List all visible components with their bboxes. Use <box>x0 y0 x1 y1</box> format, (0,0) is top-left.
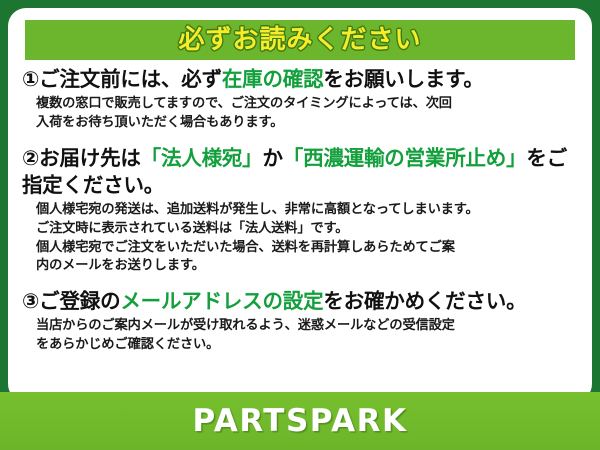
notice-item-3-heading-part-2: をお確かめください。 <box>323 289 526 313</box>
banner-title: 必ずお読みください <box>178 27 421 53</box>
notice-item-3-detail: 当店からのご案内メールが受け取れるよう、迷惑メールなどの受信設定 をあらかじめご… <box>36 317 580 354</box>
notice-item-2-heading-highlight-2: 「西濃運輸の営業所止め」 <box>283 146 527 170</box>
brand-logo-text: PARTSPARK <box>192 406 407 437</box>
notice-item-2-heading: ②お届け先は「法人様宛」か「西濃運輸の営業所止め」をご指定ください。 <box>22 145 580 200</box>
notice-item-2-detail-line-1: ご注文時に表示されている送料は「法人送料」です。 <box>36 220 580 239</box>
notice-item-3-heading: ③ご登録のメールアドレスの設定をお確かめください。 <box>22 288 580 315</box>
notice-banner: 必ずお読みください ①ご注文前には、必ず在庫の確認をお願いします。 複数の窓口で… <box>0 0 600 450</box>
notice-item-2-heading-part-0: お届け先は <box>39 146 141 170</box>
notice-item-3: ③ご登録のメールアドレスの設定をお確かめください。 当店からのご案内メールが受け… <box>22 288 580 355</box>
notice-item-1-detail-line-1: 入荷をお待ち頂いただく場合もあります。 <box>36 114 580 133</box>
notice-item-2-detail-line-3: 内のメールをお送りします。 <box>36 257 580 276</box>
notice-item-1-heading-part-0: ご注文前には、必ず <box>39 67 222 91</box>
notice-item-3-detail-line-1: をあらかじめご確認ください。 <box>36 336 580 355</box>
notice-item-1-heading-highlight: 在庫の確認 <box>222 67 324 91</box>
notice-item-2-detail: 個人様宅宛の発送は、追加送料が発生し、非常に高額となってしまいます。 ご注文時に… <box>36 201 580 276</box>
notice-item-1-heading: ①ご注文前には、必ず在庫の確認をお願いします。 <box>22 66 580 93</box>
notice-item-2-heading-part-2: か <box>262 146 282 170</box>
notice-item-1-marker: ① <box>22 67 39 91</box>
footer-bar: PARTSPARK <box>0 392 600 450</box>
notice-item-2-detail-line-0: 個人様宅宛の発送は、追加送料が発生し、非常に高額となってしまいます。 <box>36 201 580 220</box>
notice-item-1: ①ご注文前には、必ず在庫の確認をお願いします。 複数の窓口で販売してますので、ご… <box>22 66 580 133</box>
notice-item-3-detail-line-0: 当店からのご案内メールが受け取れるよう、迷惑メールなどの受信設定 <box>36 317 580 336</box>
notice-item-3-heading-highlight: メールアドレスの設定 <box>120 289 323 313</box>
notice-item-2: ②お届け先は「法人様宛」か「西濃運輸の営業所止め」をご指定ください。 個人様宅宛… <box>22 145 580 276</box>
notice-item-3-heading-part-0: ご登録の <box>39 289 120 313</box>
notice-item-3-marker: ③ <box>22 289 39 313</box>
notice-list: ①ご注文前には、必ず在庫の確認をお願いします。 複数の窓口で販売してますので、ご… <box>8 64 592 358</box>
notice-panel: 必ずお読みください ①ご注文前には、必ず在庫の確認をお願いします。 複数の窓口で… <box>8 8 592 402</box>
notice-item-2-detail-line-2: 個人様宅宛でご注文をいただいた場合、送料を再計算しあらためてご案 <box>36 239 580 258</box>
title-band: 必ずお読みください <box>25 20 575 60</box>
notice-item-2-marker: ② <box>22 146 39 170</box>
notice-item-1-detail-line-0: 複数の窓口で販売してますので、ご注文のタイミングによっては、次回 <box>36 95 580 114</box>
notice-item-1-detail: 複数の窓口で販売してますので、ご注文のタイミングによっては、次回 入荷をお待ち頂… <box>36 95 580 132</box>
notice-item-1-heading-part-2: をお願いします。 <box>323 67 483 91</box>
notice-item-2-heading-highlight-1: 「法人様宛」 <box>141 146 263 170</box>
